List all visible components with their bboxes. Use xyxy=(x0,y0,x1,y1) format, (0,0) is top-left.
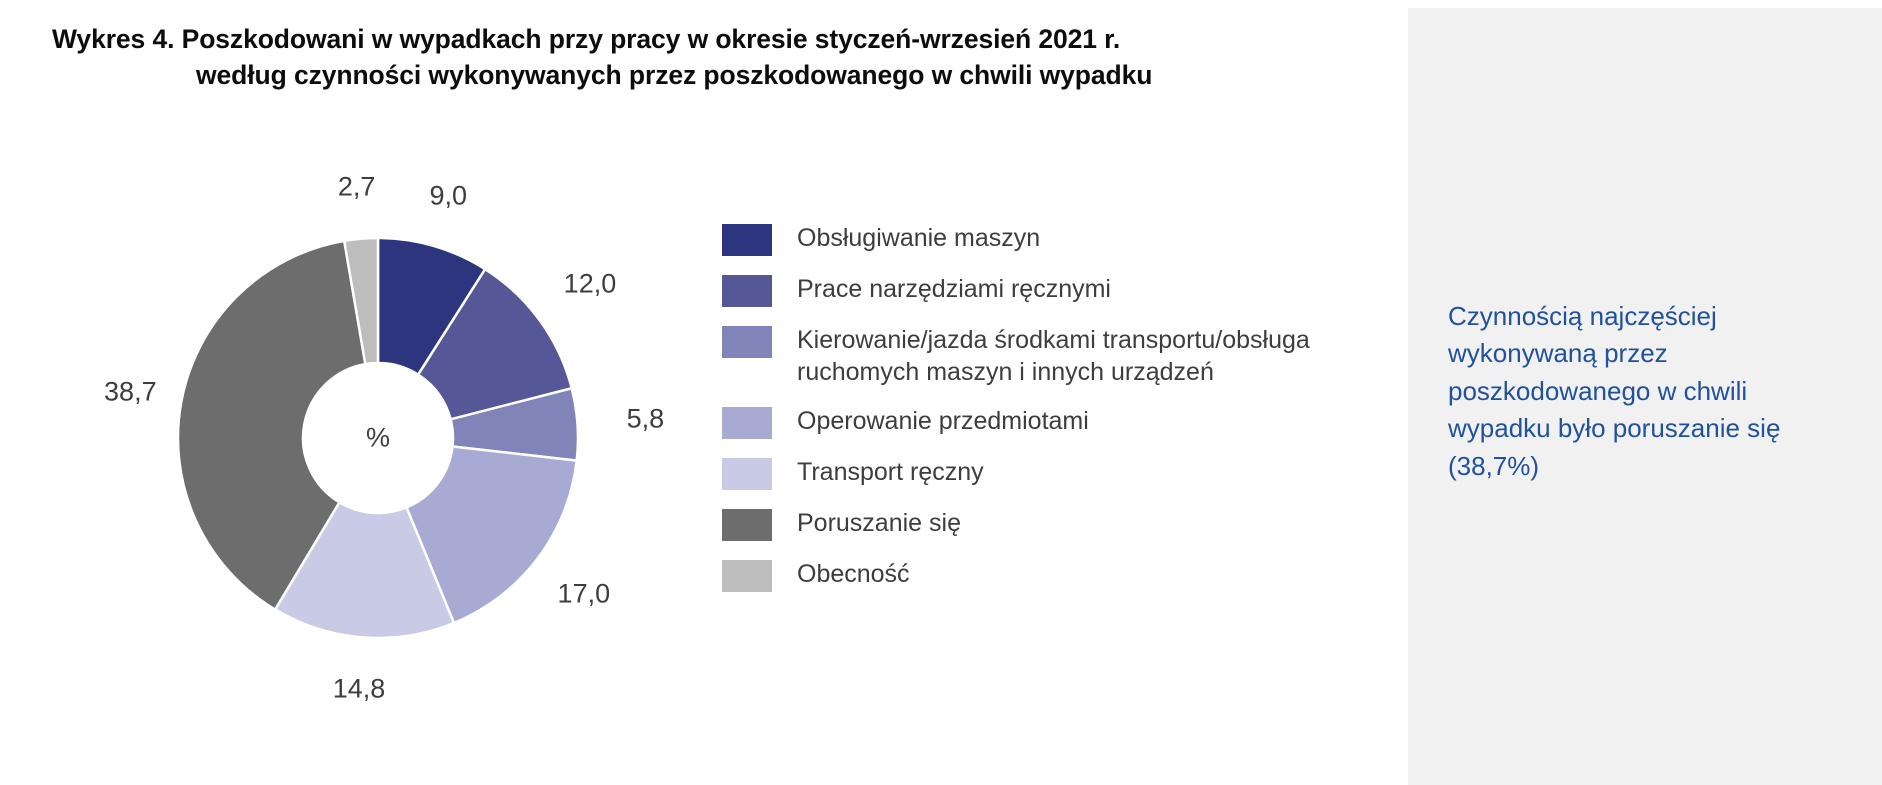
slice-value-label: 2,7 xyxy=(338,171,376,202)
slice-value-label: 5,8 xyxy=(627,404,665,435)
chart-legend: Obsługiwanie maszynPrace narzędziami ręc… xyxy=(722,222,1382,609)
side-panel-callout-text: Czynnością najczęściej wykonywaną przez … xyxy=(1448,298,1848,485)
legend-item[interactable]: Poruszanie się xyxy=(722,507,1382,541)
legend-item-label: Obecność xyxy=(797,558,910,590)
slice-value-label: 38,7 xyxy=(104,376,157,407)
legend-swatch-icon xyxy=(722,224,772,256)
legend-item[interactable]: Obsługiwanie maszyn xyxy=(722,222,1382,256)
legend-item[interactable]: Obecność xyxy=(722,558,1382,592)
legend-item[interactable]: Prace narzędziami ręcznymi xyxy=(722,273,1382,307)
slice-value-label: 17,0 xyxy=(558,578,611,609)
legend-swatch-icon xyxy=(722,407,772,439)
legend-swatch-icon xyxy=(722,275,772,307)
legend-item-label: Operowanie przedmiotami xyxy=(797,405,1089,437)
legend-item-label: Kierowanie/jazda środkami transportu/obs… xyxy=(797,324,1382,388)
side-panel: Czynnością najczęściej wykonywaną przez … xyxy=(1408,8,1882,785)
legend-swatch-icon xyxy=(722,458,772,490)
slice-value-label: 12,0 xyxy=(564,269,617,300)
legend-swatch-icon xyxy=(722,560,772,592)
legend-item-label: Prace narzędziami ręcznymi xyxy=(797,273,1111,305)
legend-item[interactable]: Operowanie przedmiotami xyxy=(722,405,1382,439)
donut-chart: % 9,012,05,817,014,838,72,7 xyxy=(0,0,760,785)
slice-value-label: 14,8 xyxy=(333,674,386,705)
legend-item-label: Poruszanie się xyxy=(797,507,961,539)
legend-item[interactable]: Kierowanie/jazda środkami transportu/obs… xyxy=(722,324,1382,388)
legend-item-label: Obsługiwanie maszyn xyxy=(797,222,1040,254)
donut-center-label: % xyxy=(366,423,390,454)
slice-value-label: 9,0 xyxy=(430,181,468,212)
legend-item[interactable]: Transport ręczny xyxy=(722,456,1382,490)
legend-swatch-icon xyxy=(722,326,772,358)
legend-swatch-icon xyxy=(722,509,772,541)
legend-item-label: Transport ręczny xyxy=(797,456,984,488)
